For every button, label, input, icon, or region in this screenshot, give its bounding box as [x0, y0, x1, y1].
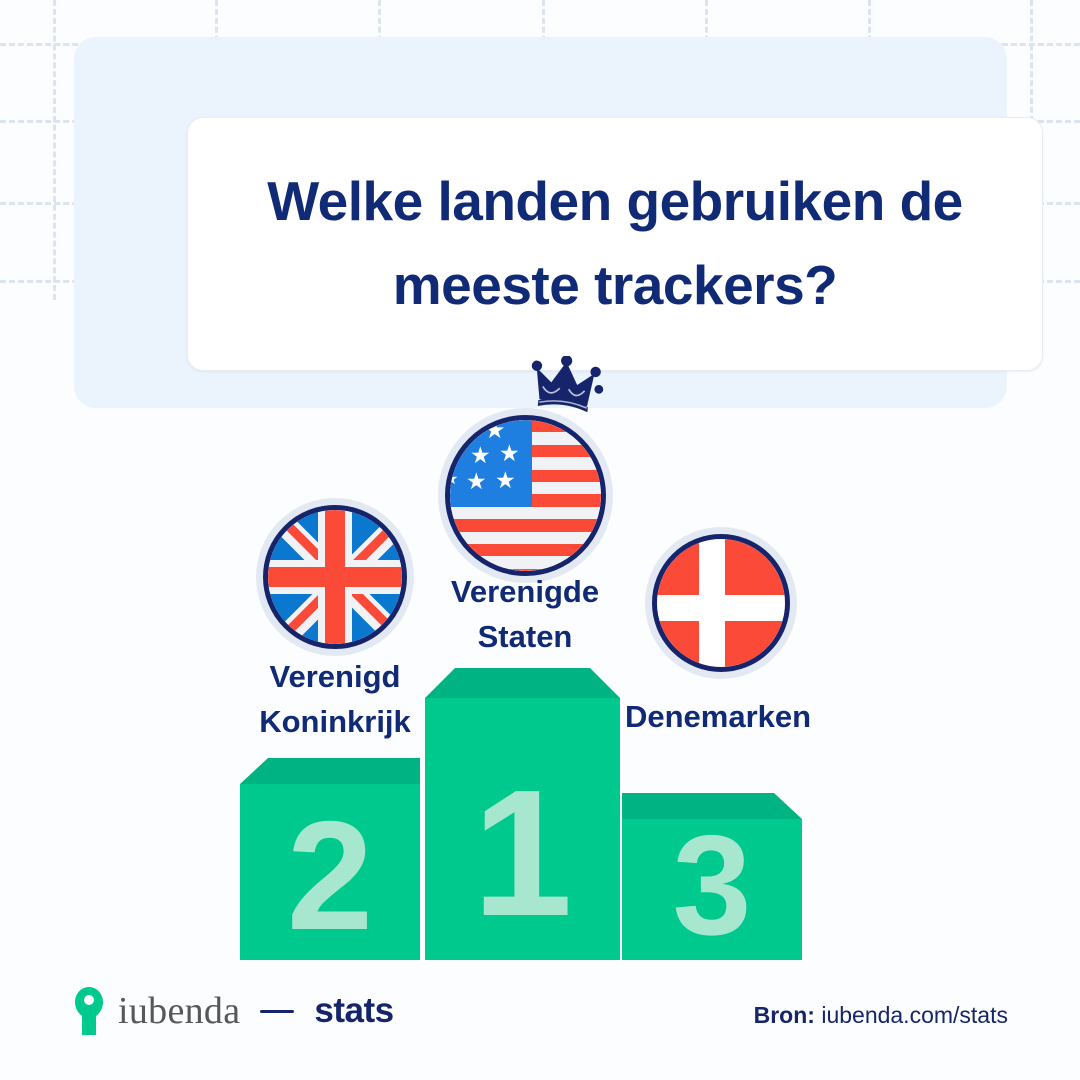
- podium-block-1: 1: [425, 668, 620, 960]
- flag-us-artwork: ★ ★ ★ ★ ★ ★ ★ ★: [450, 420, 601, 571]
- country-label-line-1: Verenigd: [270, 659, 401, 694]
- source-attribution: Bron: iubenda.com/stats: [754, 1002, 1008, 1029]
- title-panel: Welke landen gebruiken de meeste tracker…: [74, 37, 1007, 408]
- flag-uk-icon: [263, 505, 407, 649]
- podium-block-3: 3: [622, 793, 802, 960]
- infographic-canvas: Welke landen gebruiken de meeste tracker…: [0, 0, 1080, 1080]
- flag-dk-artwork: [657, 539, 785, 667]
- country-label-line-2: Staten: [478, 619, 573, 654]
- page-title-line-2: meeste trackers?: [393, 254, 838, 316]
- flag-dk-badge: [645, 527, 797, 679]
- page-title: Welke landen gebruiken de meeste tracker…: [227, 160, 1003, 327]
- brand-divider: [260, 1010, 294, 1013]
- country-label-united-states: Verenigde Staten: [400, 570, 650, 660]
- source-url: iubenda.com/stats: [821, 1002, 1008, 1028]
- country-label-line-1: Denemarken: [625, 699, 811, 734]
- podium-rank-number-1: 1: [425, 764, 620, 944]
- flag-us-icon: ★ ★ ★ ★ ★ ★ ★ ★: [445, 415, 606, 576]
- flag-uk-badge: [256, 498, 414, 656]
- source-label: Bron:: [754, 1002, 815, 1028]
- brand-footer: iubenda stats: [74, 986, 394, 1036]
- flag-us-badge: ★ ★ ★ ★ ★ ★ ★ ★: [438, 408, 613, 583]
- iubenda-keyhole-icon: [74, 986, 104, 1036]
- flag-dk-icon: [652, 534, 790, 672]
- crown-icon: [527, 356, 607, 414]
- podium-block-2: 2: [240, 758, 420, 960]
- country-label-line-2: Koninkrijk: [259, 704, 411, 739]
- flag-uk-artwork: [268, 510, 402, 644]
- product-name: stats: [314, 991, 393, 1031]
- podium-rank-number-3: 3: [622, 815, 802, 957]
- podium-rank-number-2: 2: [240, 798, 420, 953]
- country-label-line-1: Verenigde: [451, 574, 599, 609]
- brand-name: iubenda: [118, 989, 240, 1033]
- grid-line-vertical: [53, 0, 56, 300]
- title-card: Welke landen gebruiken de meeste tracker…: [187, 117, 1043, 371]
- country-label-denmark: Denemarken: [598, 695, 838, 740]
- page-title-line-1: Welke landen gebruiken de: [267, 170, 963, 232]
- country-label-united-kingdom: Verenigd Koninkrijk: [210, 655, 460, 745]
